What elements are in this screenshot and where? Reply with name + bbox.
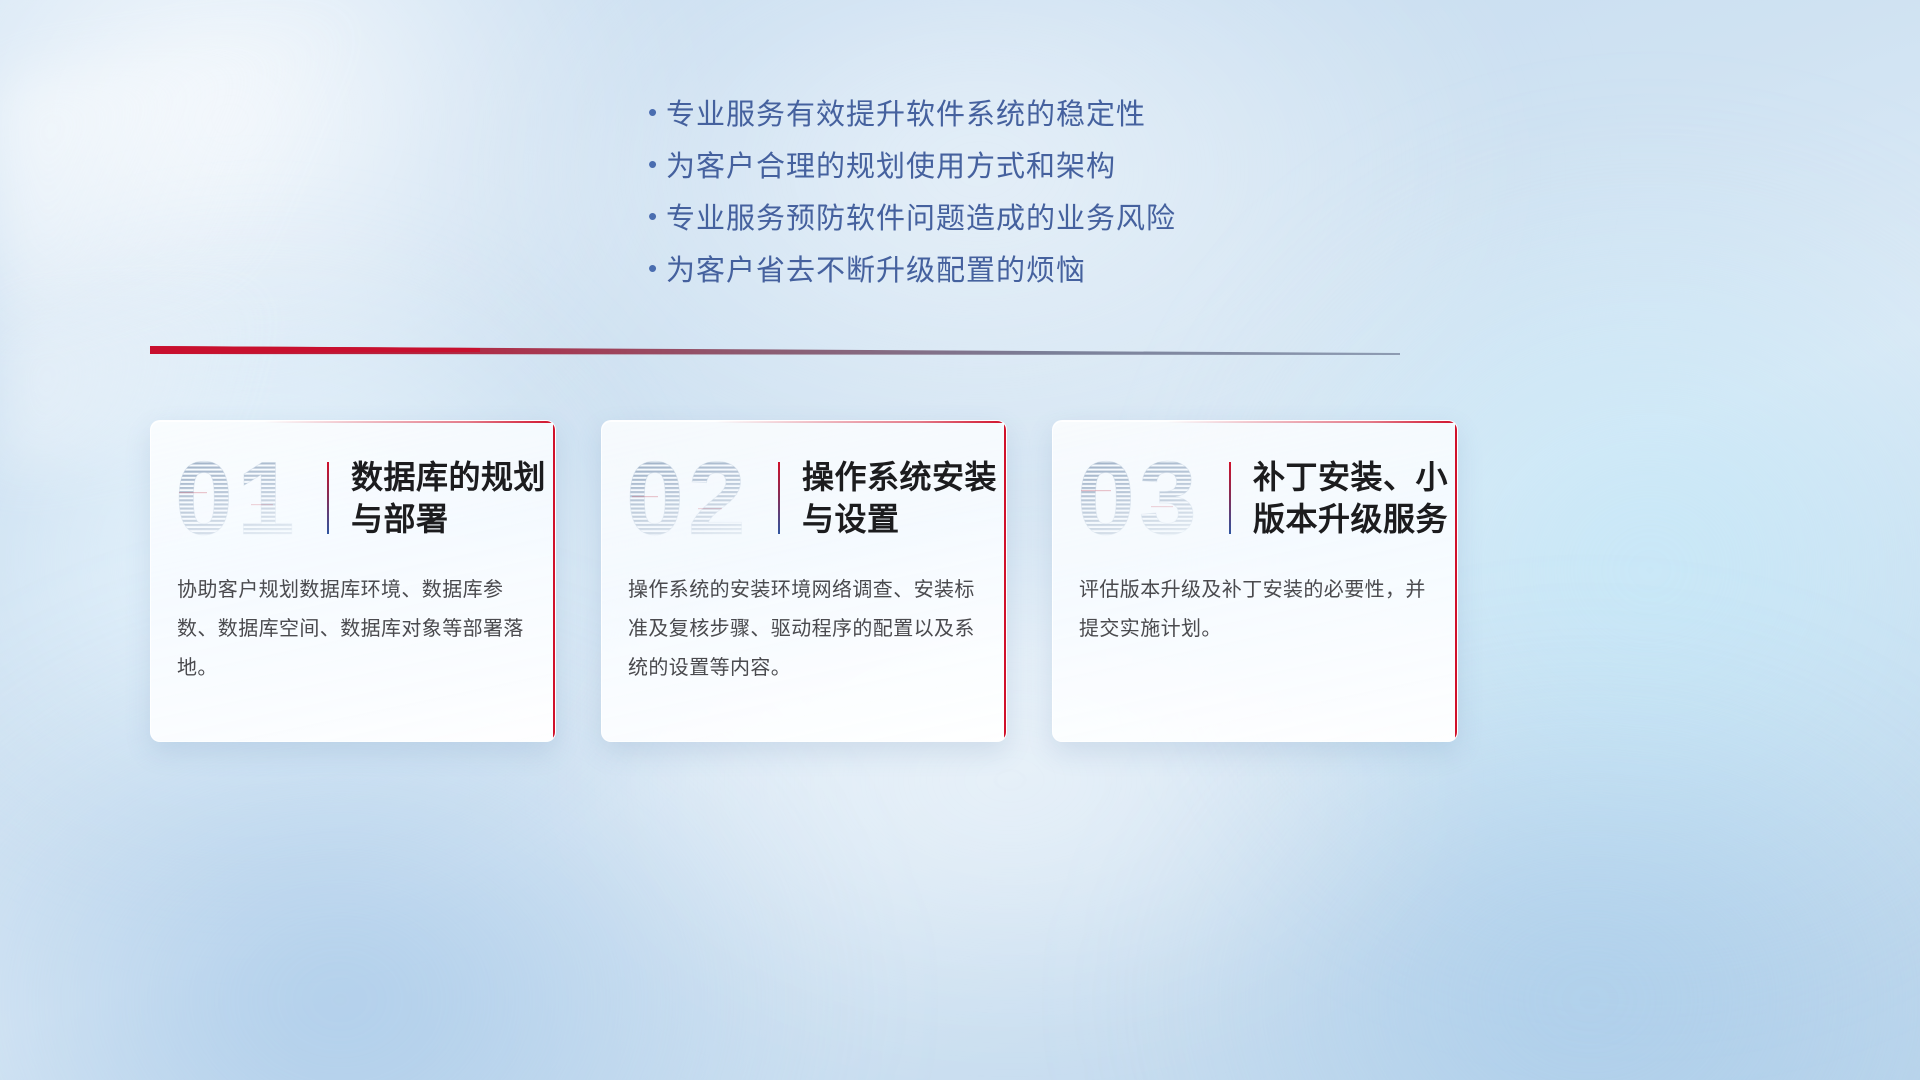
card-header: 01 01 数据库的规划 与部署 (151, 421, 555, 549)
bullet-text: 专业服务预防软件问题造成的业务风险 (666, 195, 1176, 237)
card-title-divider (1229, 462, 1231, 534)
svg-text:03: 03 (1077, 446, 1201, 550)
card-header: 02 02 操作系统安装 与设置 (602, 421, 1006, 549)
card-number-02-striped-numeral: 02 02 (624, 446, 774, 550)
svg-text:01: 01 (175, 446, 299, 550)
card-accent-top-border (1166, 421, 1457, 423)
card-header: 03 03 补丁安装、小 版本升级服务 (1053, 421, 1457, 549)
list-item: • 为客户省去不断升级配置的烦恼 (640, 242, 1280, 294)
card-number-01-striped-numeral: 01 01 (173, 446, 323, 550)
section-divider (150, 340, 1400, 366)
card-number-03-striped-numeral: 03 03 (1075, 446, 1225, 550)
bullet-point-icon: • (640, 151, 666, 177)
card-accent-top-border (715, 421, 1006, 423)
service-card-03[interactable]: 03 03 补丁安装、小 版本升级服务 评估版本升级及补丁安装的必要性，并提交实… (1052, 420, 1458, 742)
card-accent-top-border (264, 421, 555, 423)
list-item: • 专业服务有效提升软件系统的稳定性 (640, 86, 1280, 138)
card-title-divider (327, 462, 329, 534)
slide-canvas: • 专业服务有效提升软件系统的稳定性 • 为客户合理的规划使用方式和架构 • 专… (0, 0, 1920, 1080)
card-description: 操作系统的安装环境网络调查、安装标准及复核步骤、驱动程序的配置以及系统的设置等内… (602, 549, 1006, 688)
bullet-point-icon: • (640, 99, 666, 125)
card-description: 评估版本升级及补丁安装的必要性，并提交实施计划。 (1053, 549, 1457, 649)
svg-text:02: 02 (626, 446, 750, 550)
card-description: 协助客户规划数据库环境、数据库参数、数据库空间、数据库对象等部署落地。 (151, 549, 555, 688)
service-card-01[interactable]: 01 01 数据库的规划 与部署 协助客户规划数据库环境、数据库参数、数据库空间… (150, 420, 556, 742)
card-title: 数据库的规划 与部署 (351, 456, 546, 540)
card-title: 补丁安装、小 版本升级服务 (1253, 456, 1448, 540)
list-item: • 为客户合理的规划使用方式和架构 (640, 138, 1280, 190)
service-card-group: 01 01 数据库的规划 与部署 协助客户规划数据库环境、数据库参数、数据库空间… (150, 420, 1460, 742)
card-title-divider (778, 462, 780, 534)
card-accent-right-border (1455, 421, 1457, 741)
bullet-point-icon: • (640, 255, 666, 281)
bullet-text: 为客户合理的规划使用方式和架构 (666, 143, 1116, 185)
bullet-text: 专业服务有效提升软件系统的稳定性 (666, 91, 1146, 133)
list-item: • 专业服务预防软件问题造成的业务风险 (640, 190, 1280, 242)
bullet-point-icon: • (640, 203, 666, 229)
card-accent-right-border (1004, 421, 1006, 741)
service-card-02[interactable]: 02 02 操作系统安装 与设置 操作系统的安装环境网络调查、安装标准及复核步骤… (601, 420, 1007, 742)
benefits-bullet-list: • 专业服务有效提升软件系统的稳定性 • 为客户合理的规划使用方式和架构 • 专… (0, 86, 1920, 294)
bullet-text: 为客户省去不断升级配置的烦恼 (666, 247, 1086, 289)
card-accent-right-border (553, 421, 555, 741)
card-title: 操作系统安装 与设置 (802, 456, 997, 540)
